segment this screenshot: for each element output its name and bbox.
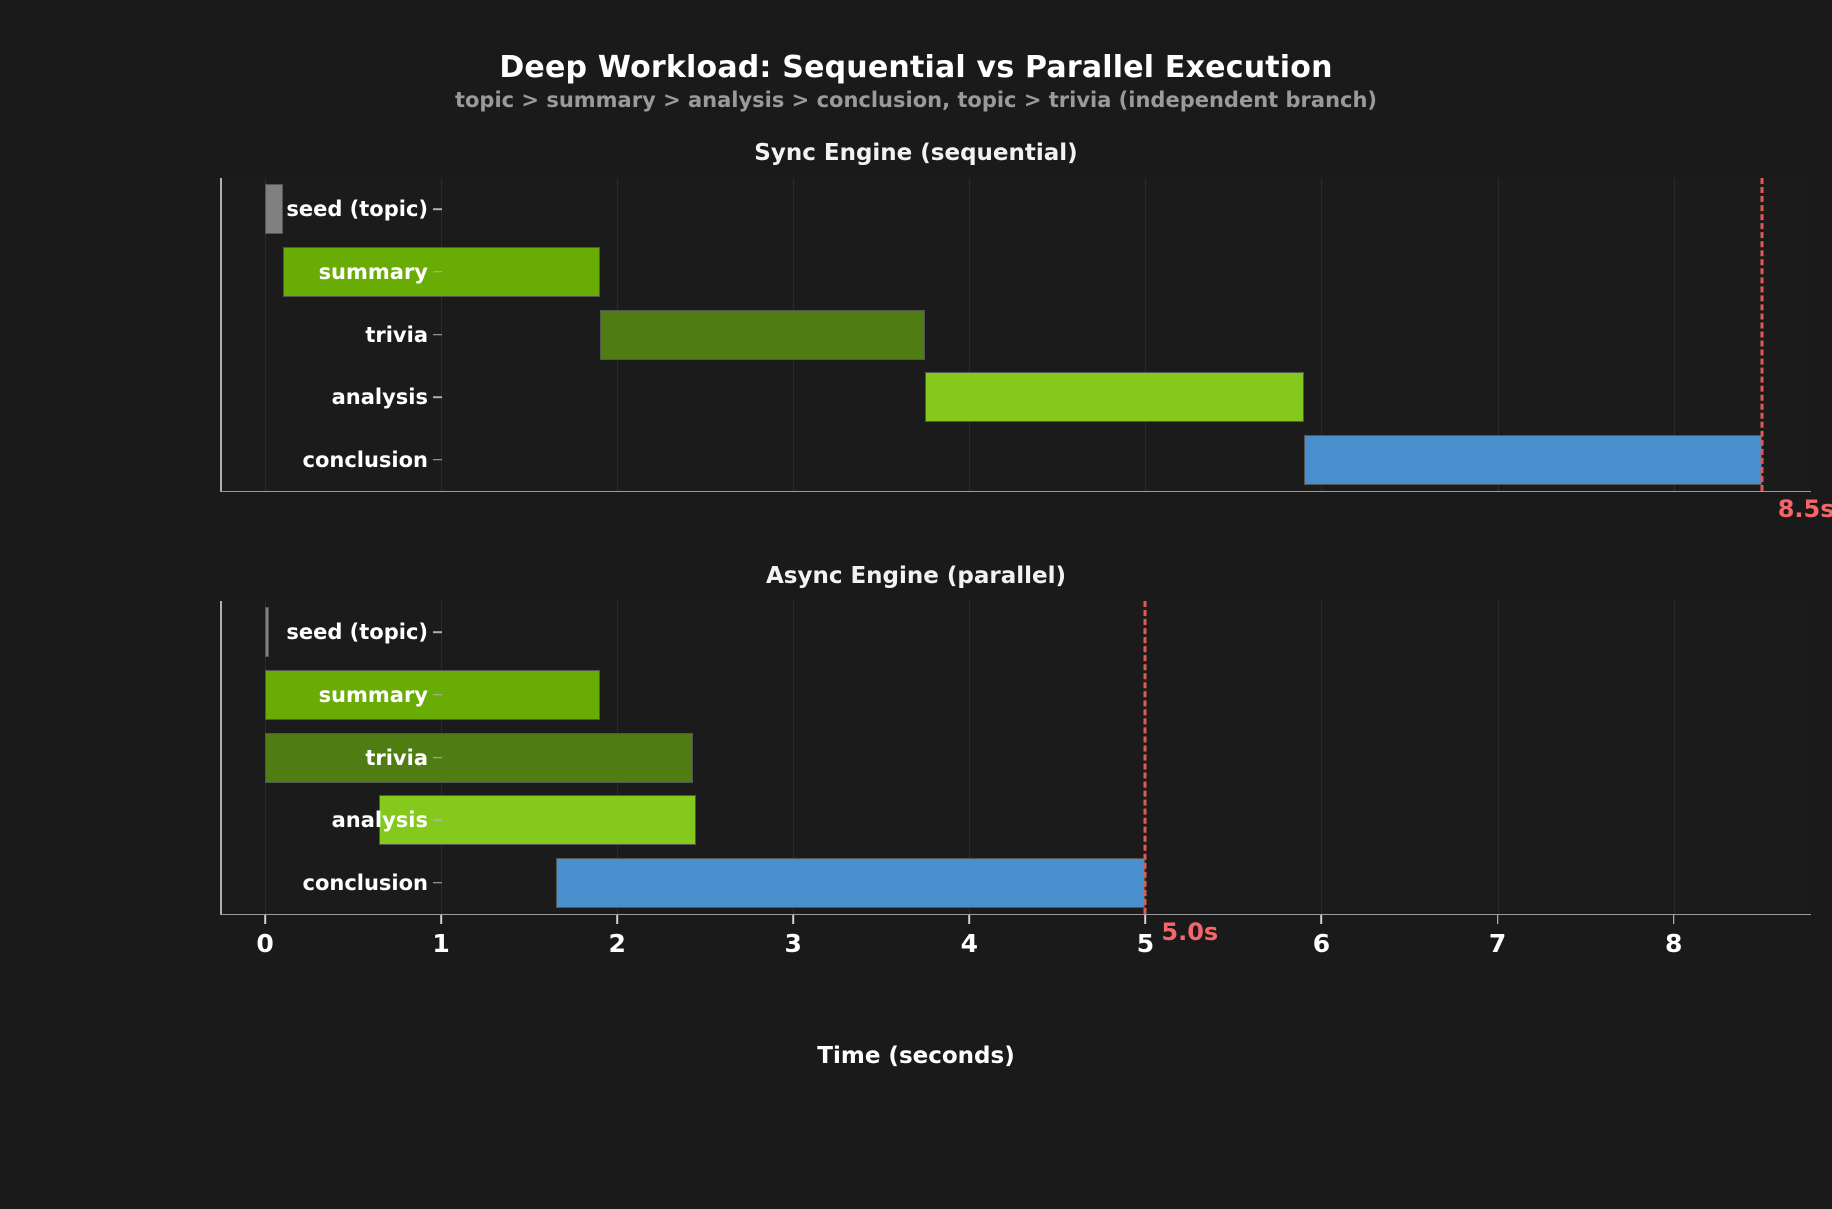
x-tick-mark (792, 915, 794, 924)
y-tick-label-conclusion: conclusion (303, 871, 443, 895)
x-tick-label-7: 7 (1489, 929, 1506, 958)
gridline (1145, 178, 1146, 491)
x-tick-mark (616, 915, 618, 924)
x-tick-label-5: 5 (1137, 929, 1154, 958)
x-tick-mark (440, 915, 442, 924)
gantt-bar (556, 858, 1146, 908)
x-tick-label-1: 1 (432, 929, 449, 958)
x-axis-spine-sync (220, 491, 1811, 492)
subplot-title-sync: Sync Engine (sequential) (0, 140, 1832, 166)
x-axis-title: Time (seconds) (0, 1043, 1832, 1069)
subplot-sync: seed (topic)summarytriviaanalysisconclus… (221, 178, 1811, 491)
y-tick-label-seed-topic-: seed (topic) (286, 197, 442, 221)
x-tick-label-4: 4 (961, 929, 978, 958)
gridline (1498, 601, 1499, 914)
y-tick-label-conclusion: conclusion (303, 448, 443, 472)
y-tick-label-seed-topic-: seed (topic) (286, 620, 442, 644)
y-tick-label-summary: summary (319, 683, 442, 707)
x-tick-mark (1145, 915, 1147, 924)
y-tick-label-trivia: trivia (365, 323, 442, 347)
gridline (1674, 601, 1675, 914)
x-tick-label-0: 0 (256, 929, 273, 958)
x-tick-mark (1497, 915, 1499, 924)
gridline (969, 178, 970, 491)
figure-title: Deep Workload: Sequential vs Parallel Ex… (0, 50, 1832, 85)
x-tick-mark (969, 915, 971, 924)
figure-canvas: Deep Workload: Sequential vs Parallel Ex… (0, 0, 1832, 1209)
total-time-dashed-line (1144, 601, 1147, 914)
figure-subtitle: topic > summary > analysis > conclusion,… (0, 88, 1832, 112)
x-tick-label-3: 3 (785, 929, 802, 958)
x-tick-label-2: 2 (608, 929, 625, 958)
total-time-dashed-line (1760, 178, 1763, 491)
x-tick-label-8: 8 (1665, 929, 1682, 958)
y-tick-labels-async: seed (topic)summarytriviaanalysisconclus… (221, 601, 442, 914)
y-tick-labels-sync: seed (topic)summarytriviaanalysisconclus… (221, 178, 442, 491)
gridline (1321, 601, 1322, 914)
subplot-title-async: Async Engine (parallel) (0, 563, 1832, 589)
y-tick-label-summary: summary (319, 260, 442, 284)
total-time-label: 8.5s (1778, 495, 1832, 523)
y-tick-label-trivia: trivia (365, 746, 442, 770)
y-tick-label-analysis: analysis (332, 385, 442, 409)
y-tick-label-analysis: analysis (332, 808, 442, 832)
x-tick-label-6: 6 (1313, 929, 1330, 958)
gantt-bar (600, 310, 926, 360)
x-tick-mark (1321, 915, 1323, 924)
subplot-async: seed (topic)summarytriviaanalysisconclus… (221, 601, 1811, 914)
x-tick-mark (1673, 915, 1675, 924)
gantt-bar (1304, 435, 1762, 485)
x-tick-mark (264, 915, 266, 924)
x-axis-ticks: 012345678 (221, 915, 1811, 975)
gantt-bar (925, 372, 1304, 422)
